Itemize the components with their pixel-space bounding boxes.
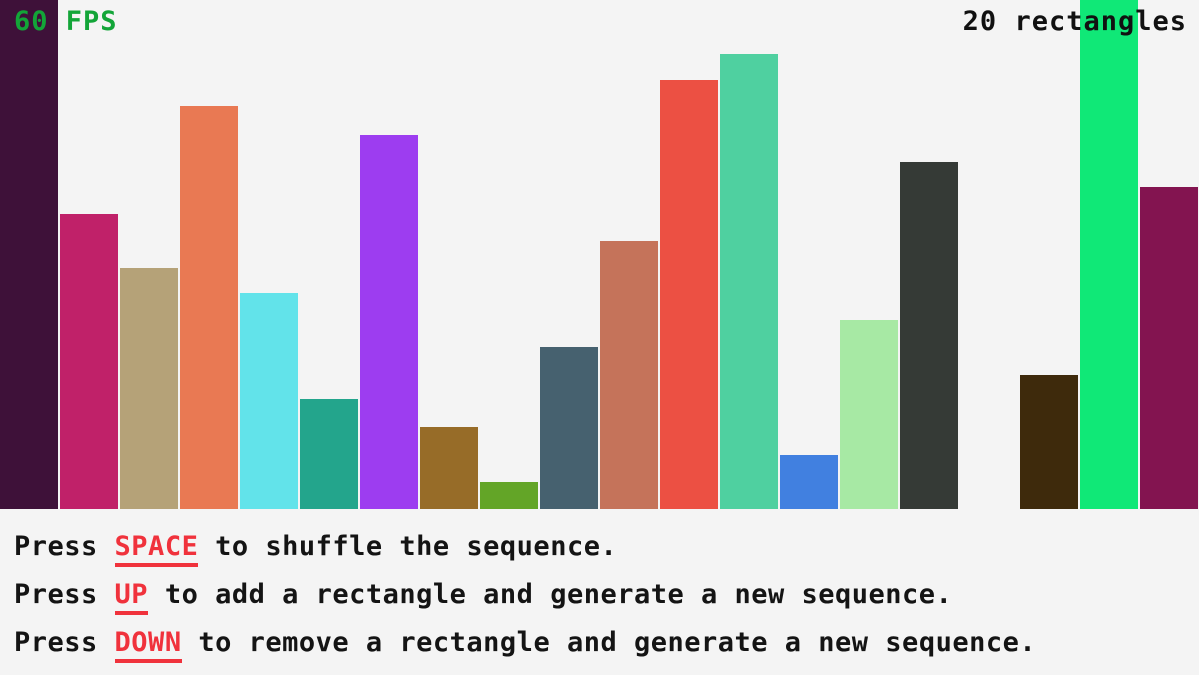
fps-counter: 60 FPS (14, 8, 118, 35)
bar-rectangle (660, 80, 718, 509)
instruction-line: Press UP to add a rectangle and generate… (14, 571, 1199, 619)
bar-rectangle (780, 455, 838, 509)
instruction-suffix: to add a rectangle and generate a new se… (148, 579, 952, 610)
bar-rectangle (300, 399, 358, 509)
keyboard-key-down[interactable]: DOWN (115, 627, 182, 663)
bar-rectangle (900, 162, 958, 509)
instruction-prefix: Press (14, 531, 115, 562)
bar-chart (0, 0, 1199, 509)
bar-rectangle (600, 241, 658, 509)
instruction-line: Press DOWN to remove a rectangle and gen… (14, 619, 1199, 667)
bar-rectangle (180, 106, 238, 509)
bar-rectangle (360, 135, 418, 509)
bar-rectangle (720, 54, 778, 509)
instruction-prefix: Press (14, 579, 115, 610)
bar-rectangle (840, 320, 898, 509)
bar-rectangle (480, 482, 538, 509)
instruction-prefix: Press (14, 627, 115, 658)
bar-rectangle (1140, 187, 1198, 509)
bar-rectangle (540, 347, 598, 509)
rectangle-sequence-app: 60 FPS 20 rectangles Press SPACE to shuf… (0, 0, 1199, 675)
keyboard-key-space[interactable]: SPACE (115, 531, 199, 567)
bar-rectangle (60, 214, 118, 509)
bar-rectangle (0, 0, 58, 509)
bar-rectangle (1080, 0, 1138, 509)
rectangle-count-label: 20 rectangles (963, 8, 1187, 35)
bar-rectangle (120, 268, 178, 509)
bar-rectangle (240, 293, 298, 509)
instruction-suffix: to remove a rectangle and generate a new… (182, 627, 1037, 658)
instruction-line: Press SPACE to shuffle the sequence. (14, 523, 1199, 571)
instruction-suffix: to shuffle the sequence. (198, 531, 617, 562)
bar-rectangle (1020, 375, 1078, 509)
instructions-panel: Press SPACE to shuffle the sequence.Pres… (0, 509, 1199, 675)
bar-rectangle (420, 427, 478, 509)
keyboard-key-up[interactable]: UP (115, 579, 149, 615)
